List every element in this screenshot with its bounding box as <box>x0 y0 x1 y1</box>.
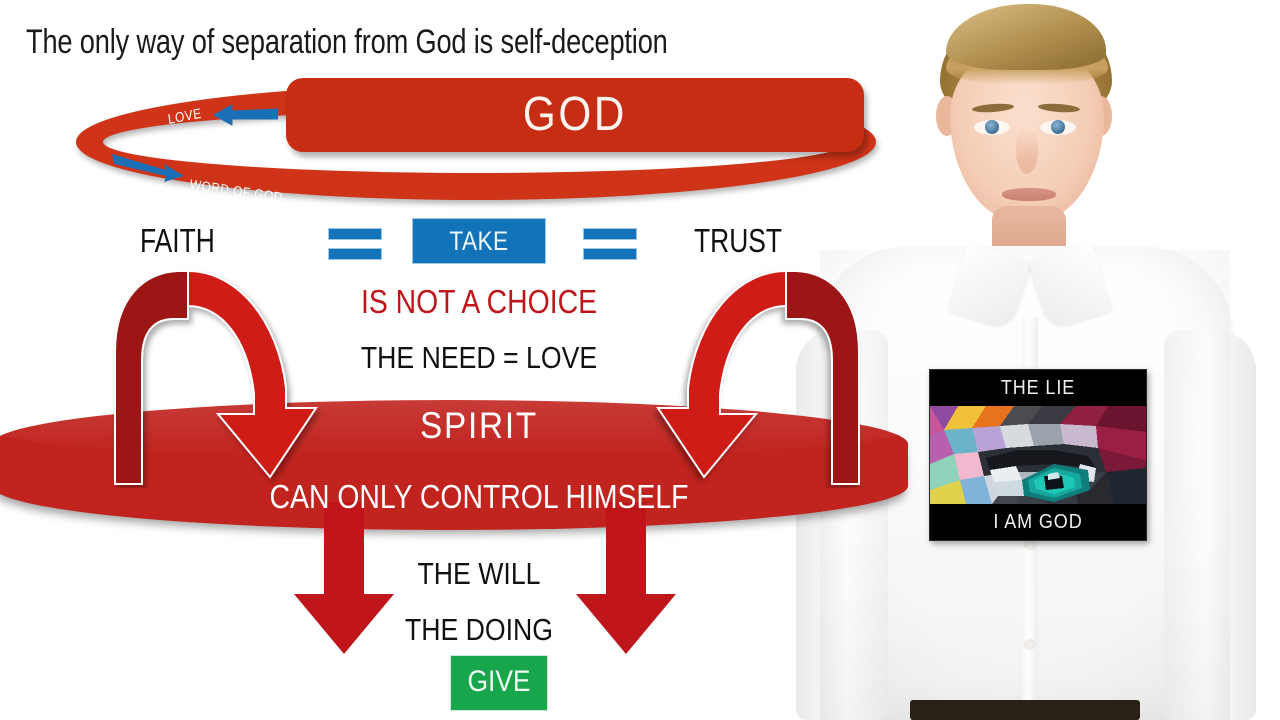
give-box-label: GIVE <box>457 656 541 708</box>
equals-sign-right <box>583 228 637 266</box>
person-arm-right <box>1164 330 1256 720</box>
faith-label: FAITH <box>140 222 215 260</box>
god-box: GOD <box>286 78 864 152</box>
is-not-a-choice-label: IS NOT A CHOICE <box>307 283 651 321</box>
the-need-equals-love-text: THE NEED = LOVE <box>279 340 679 376</box>
the-doing-label: THE DOING <box>350 612 608 648</box>
person-nose <box>1016 128 1038 174</box>
page-title: The only way of separation from God is s… <box>26 22 668 62</box>
the-doing-text: THE DOING <box>329 612 629 648</box>
person-iris-right <box>1051 120 1065 134</box>
person-shirt-button <box>1025 640 1034 649</box>
person-iris-left <box>985 120 999 134</box>
take-box-label: TAKE <box>424 219 535 264</box>
person-belt <box>910 700 1140 720</box>
the-will-label: THE WILL <box>350 556 608 592</box>
spirit-title: SPIRIT <box>279 405 679 447</box>
slide-canvas: The only way of separation from God is s… <box>0 0 1280 720</box>
person-hair-top <box>946 4 1106 70</box>
take-box: TAKE <box>412 218 546 264</box>
person-mouth <box>1002 188 1056 201</box>
the-lie-caption-bottom: I AM GOD <box>930 504 1146 540</box>
low-poly-eye-artwork <box>930 406 1146 504</box>
give-box: GIVE <box>450 655 548 711</box>
word-of-god-arrow-icon <box>112 152 184 182</box>
equals-sign-left <box>328 228 382 266</box>
equals-bar <box>328 248 382 260</box>
the-lie-panel: THE LIE <box>929 369 1147 541</box>
is-not-a-choice-text: IS NOT A CHOICE <box>279 283 679 321</box>
spirit-title-label: SPIRIT <box>299 405 659 447</box>
god-box-label: GOD <box>321 78 830 152</box>
spirit-subtitle: CAN ONLY CONTROL HIMSELF <box>199 478 759 516</box>
the-lie-caption-top: THE LIE <box>930 370 1146 406</box>
equals-bar <box>583 248 637 260</box>
spirit-subtitle-label: CAN ONLY CONTROL HIMSELF <box>238 478 720 516</box>
trust-label: TRUST <box>694 222 782 260</box>
equals-bar <box>583 228 637 240</box>
the-will-text: THE WILL <box>329 556 629 592</box>
person-shirt-button <box>1025 540 1034 549</box>
love-arrow-icon <box>214 103 278 127</box>
eye-icon <box>930 406 1146 504</box>
the-need-equals-love-label: THE NEED = LOVE <box>307 340 651 376</box>
equals-bar <box>328 228 382 240</box>
